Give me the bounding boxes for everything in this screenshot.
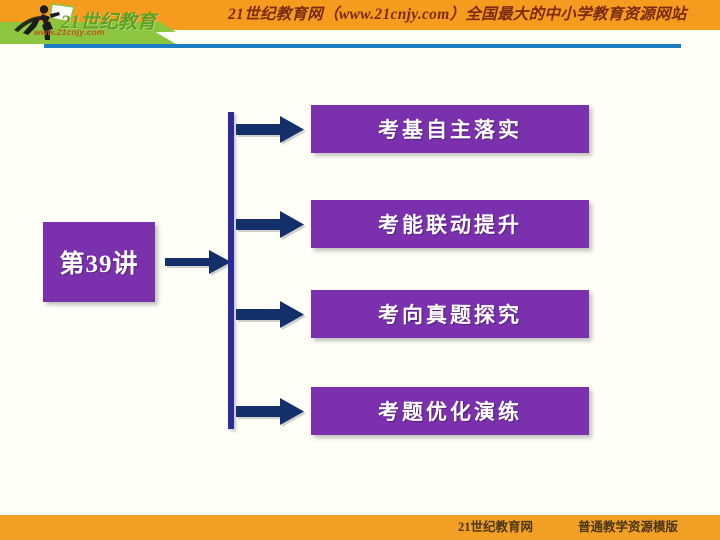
vertical-connector-spine — [228, 112, 234, 429]
unit-label: 第39讲 — [59, 244, 138, 280]
branch-row-4: 考题优化演练 — [236, 387, 596, 443]
site-logo: 21世纪教育 www.21cnjy.com — [6, 2, 186, 42]
branch-arrow-icon-4 — [236, 397, 308, 427]
header-divider-rule — [44, 44, 681, 48]
footer-template-name: 普通教学资源模版 — [578, 515, 678, 540]
branch-box-4[interactable]: 考题优化演练 — [311, 387, 589, 435]
footer-bar: 21世纪教育网 普通教学资源模版 — [0, 515, 720, 540]
footer-site-name: 21世纪教育网 — [458, 515, 533, 540]
branch-arrow-icon-2 — [236, 210, 308, 240]
branch-row-1: 考基自主落实 — [236, 105, 596, 161]
branch-row-2: 考能联动提升 — [236, 200, 596, 256]
branch-box-3[interactable]: 考向真题探究 — [311, 290, 589, 338]
slide-canvas: 21世纪教育网（www.21cnjy.com）全国最大的中小学教育资源网站 21… — [0, 0, 720, 540]
branch-arrow-icon-3 — [236, 300, 308, 330]
branch-label-3: 考向真题探究 — [378, 299, 522, 329]
branch-label-4: 考题优化演练 — [378, 396, 522, 426]
main-arrow-icon — [163, 248, 233, 276]
branch-row-3: 考向真题探究 — [236, 290, 596, 346]
header-title: 21世纪教育网（www.21cnjy.com）全国最大的中小学教育资源网站 — [228, 1, 720, 29]
logo-url: www.21cnjy.com — [34, 27, 105, 37]
branch-box-2[interactable]: 考能联动提升 — [311, 200, 589, 248]
unit-box[interactable]: 第39讲 — [43, 222, 155, 302]
branch-arrow-icon-1 — [236, 115, 308, 145]
branch-label-2: 考能联动提升 — [378, 209, 522, 239]
branch-box-1[interactable]: 考基自主落实 — [311, 105, 589, 153]
branch-label-1: 考基自主落实 — [378, 114, 522, 144]
